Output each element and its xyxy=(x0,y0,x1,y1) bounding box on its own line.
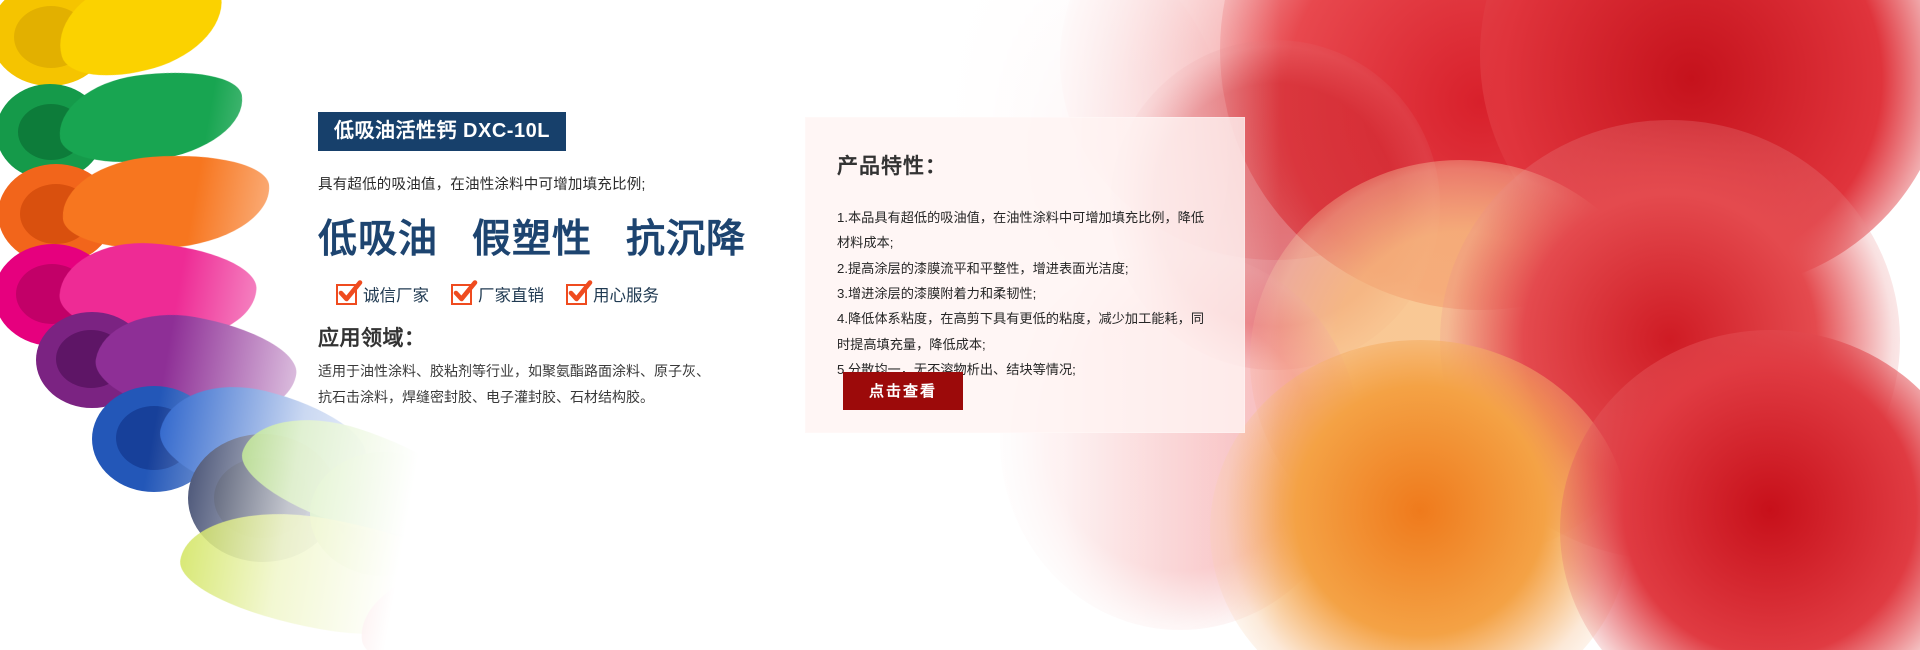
feature-item-1: 1.本品具有超低的吸油值，在油性涂料中可增加填充比例，降低材料成本; xyxy=(837,205,1215,256)
features-list: 1.本品具有超低的吸油值，在油性涂料中可增加填充比例，降低材料成本; 2.提高涂… xyxy=(837,205,1215,382)
trust-badge-2: 厂家直销 xyxy=(451,282,544,306)
trust-badge-1-label: 诚信厂家 xyxy=(363,282,429,306)
keyword-3: 抗沉降 xyxy=(626,218,746,261)
trust-badge-3: 用心服务 xyxy=(566,282,659,306)
left-content-column: 低吸油活性钙 DXC-10L 具有超低的吸油值，在油性涂料中可增加填充比例; 低… xyxy=(318,112,748,411)
trust-badge-3-label: 用心服务 xyxy=(593,282,659,306)
check-mark-icon xyxy=(336,284,357,305)
view-details-button[interactable]: 点击查看 xyxy=(843,372,963,410)
trust-badge-row: 诚信厂家 厂家直销 用心服务 xyxy=(336,282,748,306)
product-banner: 低吸油活性钙 DXC-10L 具有超低的吸油值，在油性涂料中可增加填充比例; 低… xyxy=(0,0,1920,650)
keyword-row: 低吸油假塑性抗沉降 xyxy=(318,208,748,264)
feature-item-2: 2.提高涂层的漆膜流平和平整性，增进表面光洁度; xyxy=(837,256,1215,281)
application-text: 适用于油性涂料、胶粘剂等行业，如聚氨酯路面涂料、原子灰、抗石击涂料，焊缝密封胶、… xyxy=(318,359,718,411)
keyword-2: 假塑性 xyxy=(472,218,592,261)
application-heading: 应用领域： xyxy=(318,322,748,352)
product-subtitle: 具有超低的吸油值，在油性涂料中可增加填充比例; xyxy=(318,173,748,194)
check-mark-icon xyxy=(451,284,472,305)
keyword-1: 低吸油 xyxy=(318,218,438,261)
check-mark-icon xyxy=(566,284,587,305)
product-features-panel: 产品特性： 1.本品具有超低的吸油值，在油性涂料中可增加填充比例，降低材料成本;… xyxy=(805,117,1245,433)
feature-item-3: 3.增进涂层的漆膜附着力和柔韧性; xyxy=(837,281,1215,306)
product-title-badge: 低吸油活性钙 DXC-10L xyxy=(318,112,566,151)
features-panel-title: 产品特性： xyxy=(837,150,947,180)
trust-badge-2-label: 厂家直销 xyxy=(478,282,544,306)
trust-badge-1: 诚信厂家 xyxy=(336,282,429,306)
feature-item-4: 4.降低体系粘度，在高剪下具有更低的粘度，减少加工能耗，同时提高填充量，降低成本… xyxy=(837,306,1215,357)
